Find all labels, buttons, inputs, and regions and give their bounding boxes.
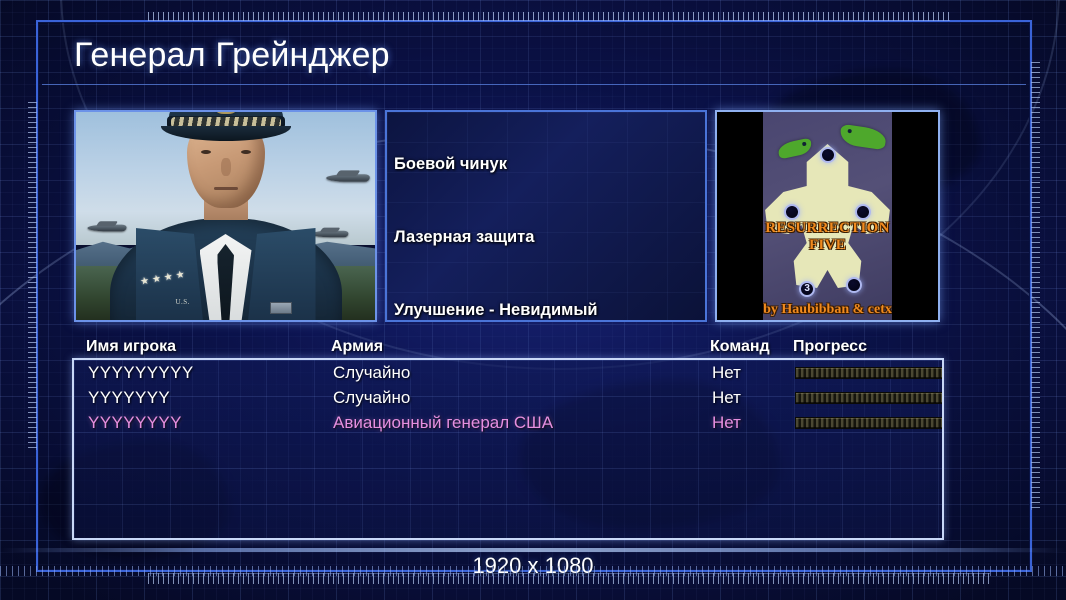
cell-progress [795,392,944,404]
map-title-line2: FIVE [763,237,892,254]
general-description-panel[interactable]: Боевой чинук Лазерная защита Улучшение -… [385,110,707,322]
crocodile-decal-icon [838,123,886,149]
aircraft-icon [326,174,370,182]
column-header-team: Команд [710,338,770,356]
cell-player-name: YYYYYYYYY [88,363,194,383]
cell-army[interactable]: Случайно [333,363,410,383]
service-ribbon-icon [270,302,292,314]
map-letterbox-left [717,112,763,320]
aircraft-icon [87,225,126,232]
cell-army[interactable]: Случайно [333,388,410,408]
player-table-header: Имя игрока Армия Команд Прогресс [74,338,940,360]
cap-visor [161,126,291,141]
cell-progress [795,367,944,379]
frame-ruler-top [148,12,950,21]
footer-glow-strip [0,548,1066,552]
column-header-army: Армия [331,338,383,356]
map-title: RESURRECTION FIVE [763,220,892,254]
eye-left [201,150,211,154]
column-header-player-name: Имя игрока [86,338,176,356]
cell-progress [795,417,944,429]
progress-bar [795,367,944,379]
cell-team[interactable]: Нет [712,363,741,383]
general-uniform: ★★★★ U.S. [110,218,342,322]
general-portrait-panel: ★★★★ U.S. [74,110,377,322]
map-start-position-label: 3 [799,281,815,297]
frame-ruler-right [1031,62,1040,510]
map-preview-image: 3 RESURRECTION FIVE by Haubibban & cetx [763,112,892,320]
map-start-position [784,204,800,220]
cell-team[interactable]: Нет [712,413,741,433]
frame-ruler-left [28,102,37,450]
frame-divider-line [42,84,1026,85]
cell-player-name: YYYYYYY [88,388,170,408]
table-row[interactable]: YYYYYYY Случайно Нет [74,385,942,410]
ability-item: Улучшение - Невидимый [394,298,699,322]
resolution-label: 1920 x 1080 [0,553,1066,579]
map-start-position [855,204,871,220]
cell-army[interactable]: Авиационный генерал США [333,413,553,433]
map-start-position [820,147,836,163]
general-portrait-image: ★★★★ U.S. [76,112,375,320]
map-landmass [763,141,892,291]
nose [221,158,231,176]
player-table-panel: YYYYYYYYY Случайно Нет YYYYYYY Случайно … [72,358,944,540]
cell-team[interactable]: Нет [712,388,741,408]
crocodile-decal-icon [777,138,813,160]
map-start-position [846,277,862,293]
map-letterbox-right [892,112,938,320]
ability-item: Боевой чинук [394,152,699,176]
generals-lobby-screen: Генерал Грейнджер ★★★★ U.S [0,0,1066,600]
ability-item: Лазерная защита [394,225,699,249]
progress-bar [795,417,944,429]
map-preview-panel[interactable]: 3 RESURRECTION FIVE by Haubibban & cetx [715,110,940,322]
cell-player-name: YYYYYYYY [88,413,182,433]
map-title-line1: RESURRECTION [763,220,892,237]
table-row[interactable]: YYYYYYYY Авиационный генерал США Нет [74,410,942,435]
table-row[interactable]: YYYYYYYYY Случайно Нет [74,360,942,385]
column-header-progress: Прогресс [793,338,867,356]
mouth [214,187,238,190]
progress-bar [795,392,944,404]
us-insignia-icon: U.S. [176,298,190,306]
eye-right [241,150,251,154]
top-panels-row: ★★★★ U.S. [74,110,940,322]
general-peaked-cap [155,110,297,142]
map-author: by Haubibban & cetx [763,302,892,318]
aircraft-icon [312,231,349,237]
page-title: Генерал Грейнджер [74,36,390,75]
general-abilities-list: Боевой чинук Лазерная защита Улучшение -… [394,110,699,322]
